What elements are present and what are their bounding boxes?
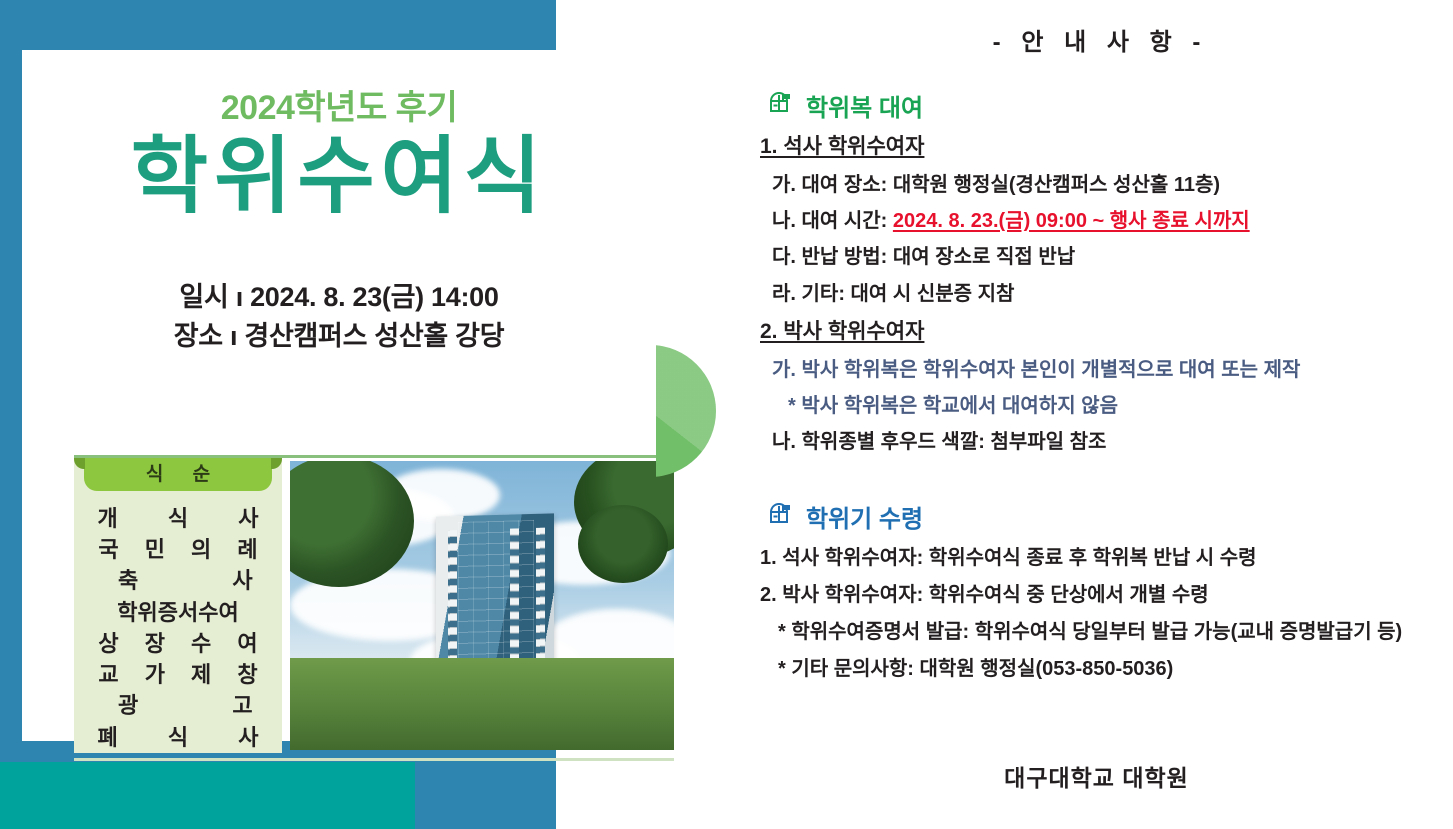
section-header: 학위복 대여 xyxy=(768,88,1440,123)
section-diploma-pickup: 학위기 수령 1. 석사 학위수여자: 학위수여식 종료 후 학위복 반납 시 … xyxy=(760,499,1440,685)
notice-title: - 안 내 사 항 - xyxy=(740,22,1453,57)
pickup-doctoral-line: 2. 박사 학위수여자: 학위수여식 중 단상에서 개별 수령 xyxy=(760,579,1440,611)
section-gown-rental: 학위복 대여 1. 석사 학위수여자 가. 대여 장소: 대학원 행정실(경산캠… xyxy=(760,88,1440,459)
section-header: 학위기 수령 xyxy=(768,499,1440,534)
subsection-label: 1. 석사 학위수여자 xyxy=(760,135,924,158)
subsection-doctoral-title: 2. 박사 학위수여자 xyxy=(760,316,1440,348)
program-heading-ribbon: 식 순 xyxy=(84,458,272,491)
poster-subtitle: 2024학년도 후기 xyxy=(22,80,656,129)
program-divider-bottom xyxy=(74,758,674,761)
notice-footer-organization: 대구대학교 대학원 xyxy=(740,759,1453,793)
poster-title: 학위수여식 xyxy=(22,132,656,220)
notice-body: 학위복 대여 1. 석사 학위수여자 가. 대여 장소: 대학원 행정실(경산캠… xyxy=(760,88,1440,691)
hood-color-line: 나. 학위종별 후우드 색깔: 첨부파일 참조 xyxy=(772,426,1440,458)
decorative-green-half-circle xyxy=(656,345,716,477)
rental-time-prefix: 나. 대여 시간: xyxy=(772,210,893,232)
program-item: 국 민 의 례 xyxy=(74,534,282,565)
pickup-masters-line: 1. 석사 학위수여자: 학위수여식 종료 후 학위복 반납 시 수령 xyxy=(760,542,1440,574)
section-header-label: 학위복 대여 xyxy=(806,88,923,123)
contact-note: * 기타 문의사항: 대학원 행정실(053-850-5036) xyxy=(778,653,1440,685)
program-panel: 식 순 개 식 사 국 민 의 례 축 사 학위증서수여 상 장 수 여 교 가… xyxy=(74,458,282,753)
rental-time-highlight: 2024. 8. 23.(금) 09:00 ~ 행사 종료 시까지 xyxy=(893,210,1250,232)
mailbox-icon xyxy=(768,92,794,119)
program-and-photo-block: 식 순 개 식 사 국 민 의 례 축 사 학위증서수여 상 장 수 여 교 가… xyxy=(74,443,674,761)
rental-location-line: 가. 대여 장소: 대학원 행정실(경산캠퍼스 성산홀 11층) xyxy=(772,169,1440,201)
decorative-teal-bottom-block xyxy=(0,762,415,829)
program-item: 교 가 제 창 xyxy=(74,659,282,690)
program-item: 개 식 사 xyxy=(74,503,282,534)
program-item: 광 고 xyxy=(74,690,282,721)
doctoral-gown-line: 가. 박사 학위복은 학위수여자 본인이 개별적으로 대여 또는 제작 xyxy=(772,354,1440,386)
program-list: 개 식 사 국 민 의 례 축 사 학위증서수여 상 장 수 여 교 가 제 창… xyxy=(74,503,282,753)
doctoral-gown-note: * 박사 학위복은 학교에서 대여하지 않음 xyxy=(788,390,1440,422)
poster-meta: 일시 ı 2024. 8. 23(금) 14:00 장소 ı 경산캠퍼스 성산홀… xyxy=(22,278,656,356)
section-header-label: 학위기 수령 xyxy=(806,499,923,534)
program-item: 상 장 수 여 xyxy=(74,628,282,659)
program-item: 축 사 xyxy=(74,565,282,596)
decorative-blue-top-band xyxy=(0,0,556,50)
subsection-label: 2. 박사 학위수여자 xyxy=(760,320,924,343)
campus-photo xyxy=(290,461,674,750)
section-spacer xyxy=(760,465,1440,499)
notice-panel: - 안 내 사 항 - 학위복 대여 1. 석사 학위수여 xyxy=(740,0,1453,829)
rental-time-line: 나. 대여 시간: 2024. 8. 23.(금) 09:00 ~ 행사 종료 … xyxy=(772,205,1440,237)
campus-lawn xyxy=(290,658,674,750)
program-item: 학위증서수여 xyxy=(74,597,282,628)
decorative-blue-left-rail xyxy=(0,0,22,752)
foreground-tree xyxy=(578,505,668,583)
certificate-issue-note: * 학위수여증명서 발급: 학위수여식 당일부터 발급 가능(교내 증명발급기 … xyxy=(778,616,1440,648)
rental-return-line: 다. 반납 방법: 대여 장소로 직접 반납 xyxy=(772,241,1440,273)
subsection-masters-title: 1. 석사 학위수여자 xyxy=(760,131,1440,163)
program-item: 폐 식 사 xyxy=(74,722,282,753)
rental-other-line: 라. 기타: 대여 시 신분증 지참 xyxy=(772,278,1440,310)
poster-datetime: 일시 ı 2024. 8. 23(금) 14:00 xyxy=(22,278,656,317)
poster-location: 장소 ı 경산캠퍼스 성산홀 강당 xyxy=(22,317,656,356)
poster-card: 2024학년도 후기 학위수여식 일시 ı 2024. 8. 23(금) 14:… xyxy=(22,50,656,741)
poster-panel: 2024학년도 후기 학위수여식 일시 ı 2024. 8. 23(금) 14:… xyxy=(0,0,740,829)
mailbox-icon xyxy=(768,503,794,530)
